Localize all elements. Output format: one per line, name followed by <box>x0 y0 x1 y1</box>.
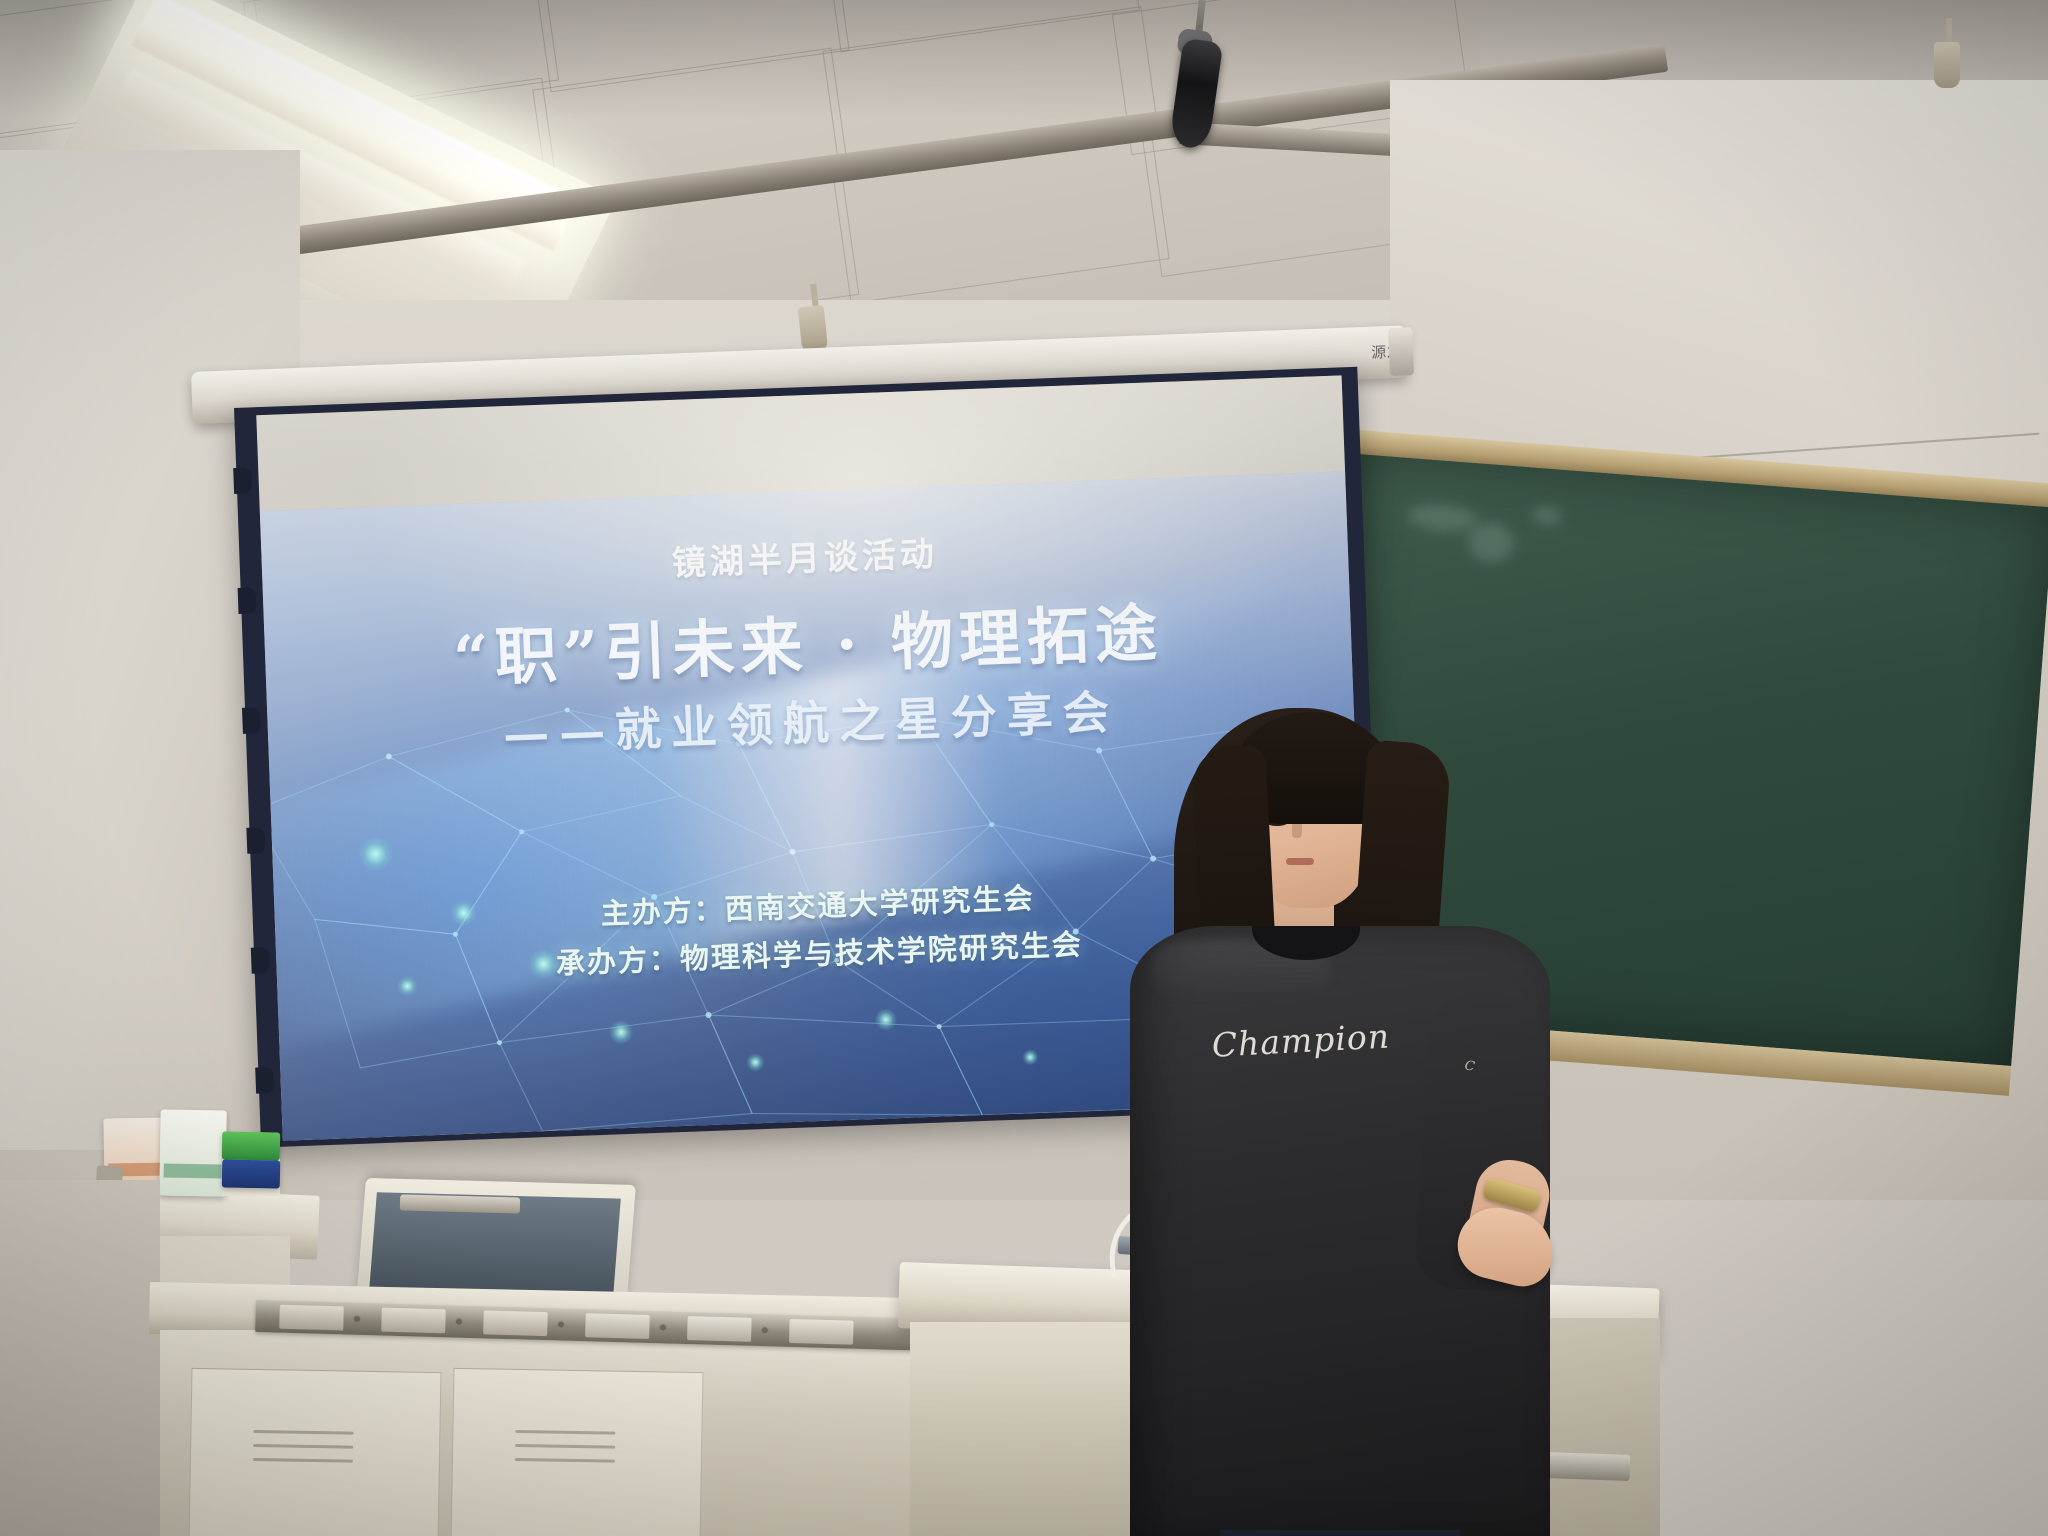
classroom-scene: 源之 <box>0 0 2048 1536</box>
presenter: Champion C <box>1140 690 1480 1536</box>
monitor-hinge-bar <box>400 1194 520 1213</box>
desk-cabinet-door-left[interactable] <box>189 1368 442 1536</box>
roller-endcap <box>1388 327 1414 376</box>
screen-hook <box>798 305 829 353</box>
trousers <box>1220 1530 1460 1536</box>
screen-hook-right <box>1934 42 1960 88</box>
mouth <box>1286 858 1314 865</box>
desk-cabinet-door-right[interactable] <box>451 1368 704 1536</box>
floor <box>0 1180 160 1536</box>
chalk-box-green[interactable] <box>159 1109 226 1196</box>
board-eraser-blue[interactable] <box>222 1159 280 1188</box>
board-eraser-green[interactable] <box>222 1131 280 1160</box>
